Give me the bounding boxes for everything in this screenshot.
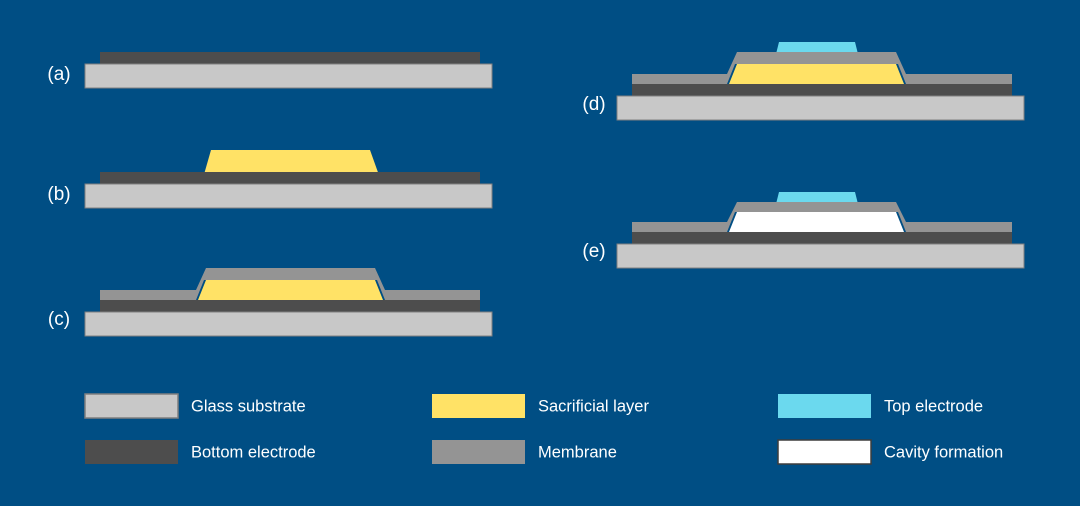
- legend-swatch-bottom-electrode: [85, 440, 178, 464]
- panel-d-bottom-electrode: [632, 84, 1012, 96]
- panel-e-glass-substrate: [617, 244, 1024, 268]
- legend-label-glass-substrate: Glass substrate: [191, 397, 306, 415]
- panel-a-label: (a): [47, 64, 70, 85]
- legend-swatch-glass-substrate: [85, 394, 178, 418]
- legend-item-membrane: Membrane: [432, 440, 617, 464]
- legend-label-top-electrode: Top electrode: [884, 397, 983, 415]
- legend-item-bottom-electrode: Bottom electrode: [85, 440, 316, 464]
- panel-d-label: (d): [582, 94, 605, 115]
- panel-a: (a): [47, 52, 492, 88]
- panel-c-glass-substrate: [85, 312, 492, 336]
- legend-label-cavity-formation: Cavity formation: [884, 443, 1003, 461]
- panel-e: (e): [582, 192, 1024, 268]
- legend-swatch-top-electrode: [778, 394, 871, 418]
- legend-swatch-membrane: [432, 440, 525, 464]
- panel-b: (b): [47, 150, 492, 208]
- panel-d-sacrificial-layer: [729, 64, 904, 84]
- panel-e-cavity-formation: [729, 212, 904, 232]
- panel-a-bottom-electrode: [100, 52, 480, 64]
- panel-d-glass-substrate: [617, 96, 1024, 120]
- panel-e-bottom-electrode: [632, 232, 1012, 244]
- panel-a-glass-substrate: [85, 64, 492, 88]
- panel-c: (c): [48, 268, 492, 336]
- panel-c-sacrificial-layer: [198, 280, 383, 300]
- panel-b-glass-substrate: [85, 184, 492, 208]
- panel-e-label: (e): [582, 241, 605, 262]
- legend-item-sacrificial-layer: Sacrificial layer: [432, 394, 649, 418]
- legend-item-top-electrode: Top electrode: [778, 394, 983, 418]
- legend-label-membrane: Membrane: [538, 443, 617, 461]
- panel-b-label: (b): [47, 184, 70, 205]
- legend-item-cavity-formation: Cavity formation: [778, 440, 1003, 464]
- legend: Glass substrate Bottom electrode Sacrifi…: [85, 394, 1003, 464]
- panel-b-bottom-electrode: [100, 172, 480, 184]
- panel-c-bottom-electrode: [100, 300, 480, 312]
- legend-item-glass-substrate: Glass substrate: [85, 394, 306, 418]
- panel-d: (d): [582, 42, 1024, 120]
- figure-canvas: (a) (b) (c) (d): [0, 0, 1080, 506]
- legend-label-sacrificial-layer: Sacrificial layer: [538, 397, 649, 415]
- panel-c-label: (c): [48, 309, 70, 330]
- legend-label-bottom-electrode: Bottom electrode: [191, 443, 316, 461]
- legend-swatch-sacrificial-layer: [432, 394, 525, 418]
- legend-swatch-cavity-formation: [778, 440, 871, 464]
- fabrication-process-figure: (a) (b) (c) (d): [0, 0, 1080, 506]
